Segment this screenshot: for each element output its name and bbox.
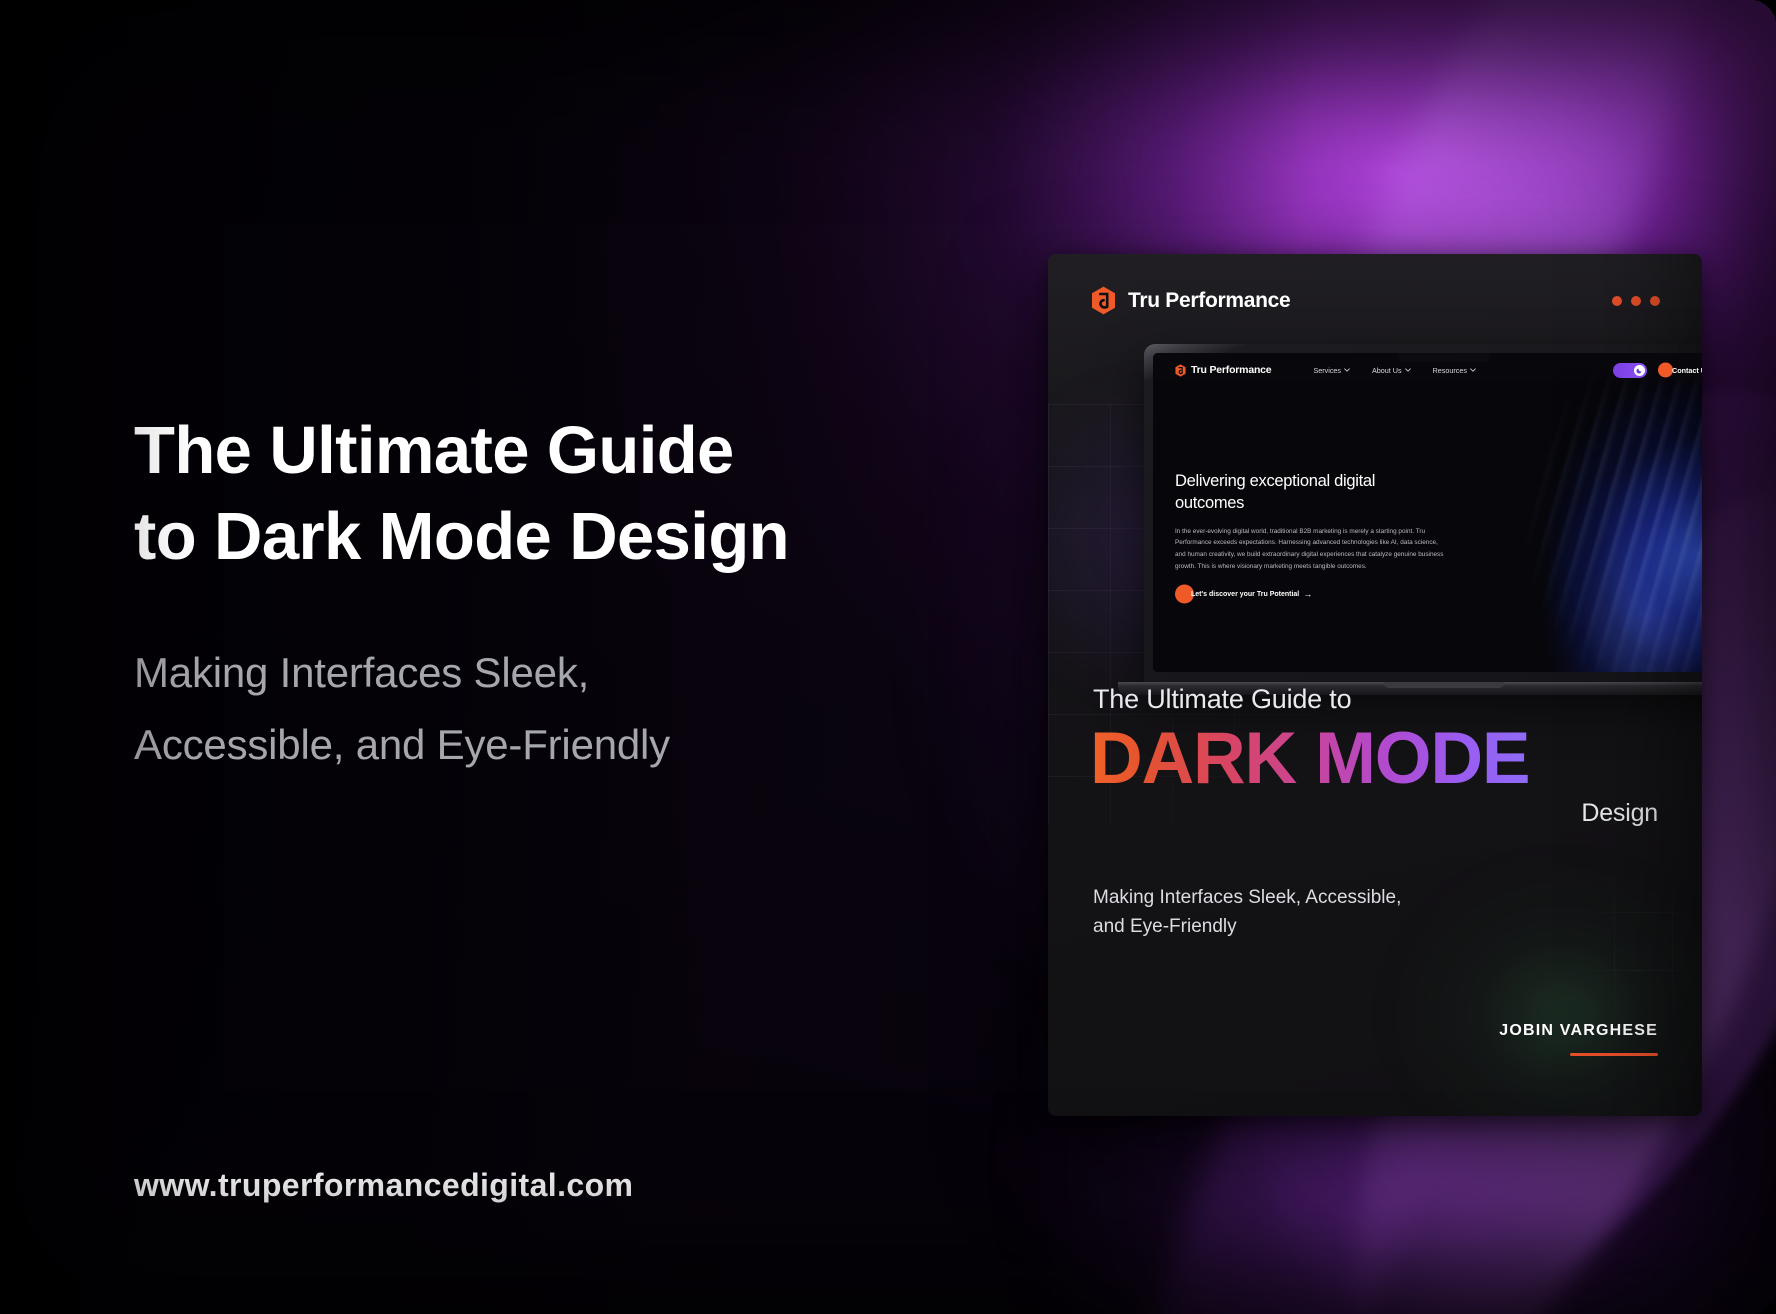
cover-brand-lockup: Tru Performance (1091, 286, 1290, 315)
cover-title: DARK MODE (1090, 722, 1529, 795)
tru-hex-logo-icon (1091, 286, 1116, 315)
nav-label-services: Services (1313, 366, 1341, 375)
cover-grid-overlay-2 (1382, 854, 1702, 1116)
poster-canvas: The Ultimate Guide to Dark Mode Design M… (0, 0, 1776, 1314)
cover-author: JOBIN VARGHESE (1499, 1022, 1658, 1040)
nav-label-about-us: About Us (1372, 366, 1402, 375)
laptop-hinge-notch (1384, 682, 1504, 688)
site-nav-links: Services About Us (1313, 366, 1476, 375)
laptop-lid: Tru Performance Services (1144, 344, 1702, 686)
website-preview: Tru Performance Services (1153, 353, 1702, 672)
headline-block: The Ultimate Guide to Dark Mode Design M… (134, 408, 994, 781)
theme-toggle-switch[interactable] (1613, 363, 1647, 378)
cover-eyebrow: The Ultimate Guide to (1093, 684, 1351, 715)
toggle-knob (1634, 365, 1645, 376)
page-subtitle: Making Interfaces Sleek, Accessible, and… (134, 637, 994, 781)
cover-brand-name: Tru Performance (1128, 289, 1290, 313)
nav-label-resources: Resources (1433, 366, 1467, 375)
chevron-down-icon (1344, 368, 1350, 372)
nav-item-about-us[interactable]: About Us (1372, 366, 1411, 375)
nav-item-resources[interactable]: Resources (1433, 366, 1476, 375)
cover-design-word: Design (1581, 799, 1658, 828)
chevron-down-icon (1470, 368, 1476, 372)
site-hero-heading: Delivering exceptional digital outcomes (1175, 471, 1475, 515)
book-cover-card[interactable]: Tru Performance (1048, 254, 1702, 1116)
three-dots-icon (1612, 296, 1660, 306)
site-brand-name: Tru Performance (1191, 364, 1271, 376)
page-title: The Ultimate Guide to Dark Mode Design (134, 408, 994, 581)
laptop-mockup: Tru Performance Services (1144, 344, 1702, 704)
site-hero-paragraph: In the ever-evolving digital world, trad… (1175, 526, 1447, 573)
site-hero-content: Delivering exceptional digital outcomes … (1175, 471, 1475, 601)
site-brand-lockup[interactable]: Tru Performance (1175, 364, 1271, 377)
contact-us-label: Contact Us (1672, 366, 1702, 375)
chevron-down-icon (1405, 368, 1411, 372)
arrow-right-icon: → (1303, 589, 1312, 599)
nav-item-services[interactable]: Services (1313, 366, 1350, 375)
site-cta-label: Let's discover your Tru Potential (1191, 591, 1299, 598)
cover-accent-rule (1570, 1053, 1658, 1056)
website-url[interactable]: www.truperformancedigital.com (134, 1167, 633, 1204)
contact-us-button[interactable]: Contact Us → (1658, 366, 1702, 375)
moon-icon (1636, 367, 1643, 374)
laptop-notch (1398, 353, 1490, 362)
tru-hex-logo-icon (1175, 364, 1186, 377)
laptop-screen: Tru Performance Services (1153, 353, 1702, 672)
site-cta-button[interactable]: Let's discover your Tru Potential → (1175, 589, 1312, 599)
contact-orb (1658, 363, 1673, 378)
site-nav-actions: Contact Us → (1613, 363, 1702, 378)
cover-subtitle: Making Interfaces Sleek, Accessible, and… (1093, 884, 1401, 942)
